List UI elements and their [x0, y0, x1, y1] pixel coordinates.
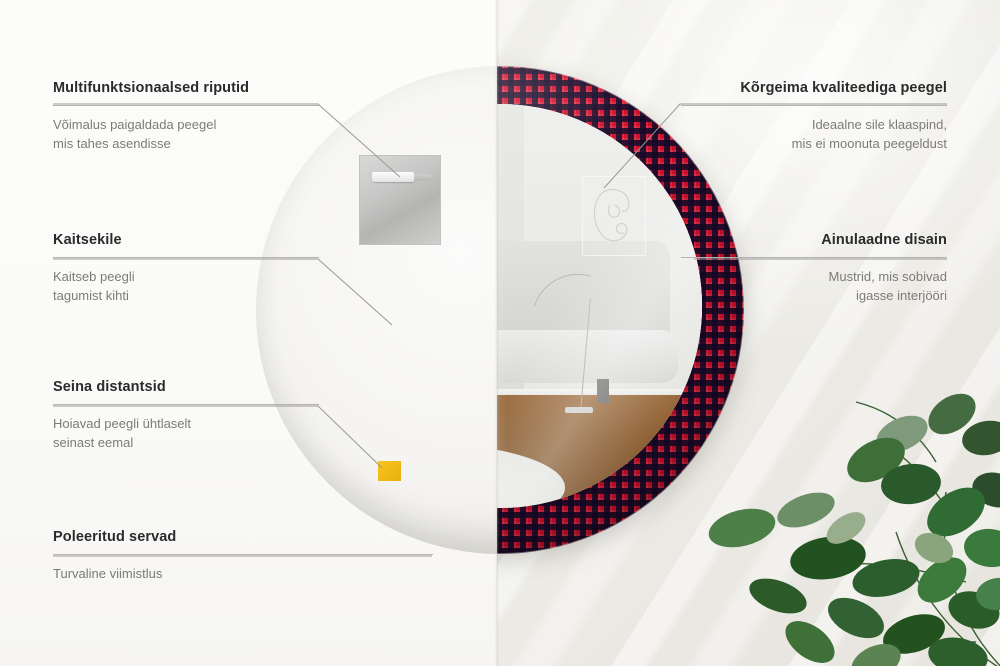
callout-title: Poleeritud servad	[53, 529, 433, 545]
callout-body-line: Turvaline viimistlus	[53, 566, 162, 581]
callout-body-line: Hoiavad peegli ühtlaselt	[53, 416, 191, 431]
callout-body-line: Võimalus paigaldada peegel	[53, 117, 216, 132]
callout-body-line: igasse interjööri	[856, 288, 947, 303]
callout-body-line: mis tahes asendisse	[53, 136, 171, 151]
callout-rule	[53, 404, 319, 405]
callout-body: Hoiavad peegli ühtlaselt seinast eemal	[53, 414, 319, 452]
callout-body-line: seinast eemal	[53, 435, 133, 450]
callout-title: Ainulaadne disain	[681, 232, 947, 248]
wall-distance-spacer	[378, 461, 401, 481]
panel-seam	[495, 0, 499, 666]
eucalyptus-plant	[706, 342, 1000, 666]
callout-rule	[53, 257, 319, 258]
callout-rule	[681, 105, 947, 106]
callout-ainulaadne-disain: Ainulaadne disain Mustrid, mis sobivad i…	[681, 232, 947, 305]
callout-body-line: Kaitseb peegli	[53, 269, 135, 284]
callout-seina-distantsid: Seina distantsid Hoiavad peegli ühtlasel…	[53, 379, 319, 452]
callout-multifunktsionaalsed-riputid: Multifunktsionaalsed riputid Võimalus pa…	[53, 80, 319, 153]
callout-body-line: mis ei moonuta peegeldust	[792, 136, 947, 151]
callout-body: Turvaline viimistlus	[53, 564, 433, 583]
callout-korgeima-kvaliteediga-peegel: Kõrgeima kvaliteediga peegel Ideaalne si…	[681, 80, 947, 153]
callout-body: Võimalus paigaldada peegel mis tahes ase…	[53, 115, 319, 153]
callout-body: Mustrid, mis sobivad igasse interjööri	[681, 267, 947, 305]
callout-poleeritud-servad: Poleeritud servad Turvaline viimistlus	[53, 529, 433, 583]
callout-title: Kaitsekile	[53, 232, 319, 248]
callout-kaitsekile: Kaitsekile Kaitseb peegli tagumist kihti	[53, 232, 319, 305]
callout-body-line: Mustrid, mis sobivad	[829, 269, 947, 284]
hanging-bracket	[359, 155, 441, 245]
callout-title: Kõrgeima kvaliteediga peegel	[681, 80, 947, 96]
callout-rule	[53, 105, 319, 106]
glass-etched-logo	[582, 176, 646, 256]
callout-title: Multifunktsionaalsed riputid	[53, 80, 319, 96]
callout-title: Seina distantsid	[53, 379, 319, 395]
bracket-slot-icon	[372, 172, 414, 182]
plant-leaves	[706, 385, 1000, 666]
callout-body: Kaitseb peegli tagumist kihti	[53, 267, 319, 305]
callout-rule	[53, 554, 433, 555]
infographic-canvas: Multifunktsionaalsed riputid Võimalus pa…	[0, 0, 1000, 666]
bracket-slot-secondary-icon	[414, 174, 432, 181]
callout-body: Ideaalne sile klaaspind, mis ei moonuta …	[681, 115, 947, 153]
callout-body-line: tagumist kihti	[53, 288, 129, 303]
callout-rule	[681, 257, 947, 258]
callout-body-line: Ideaalne sile klaaspind,	[812, 117, 947, 132]
etched-face-icon	[588, 183, 640, 249]
